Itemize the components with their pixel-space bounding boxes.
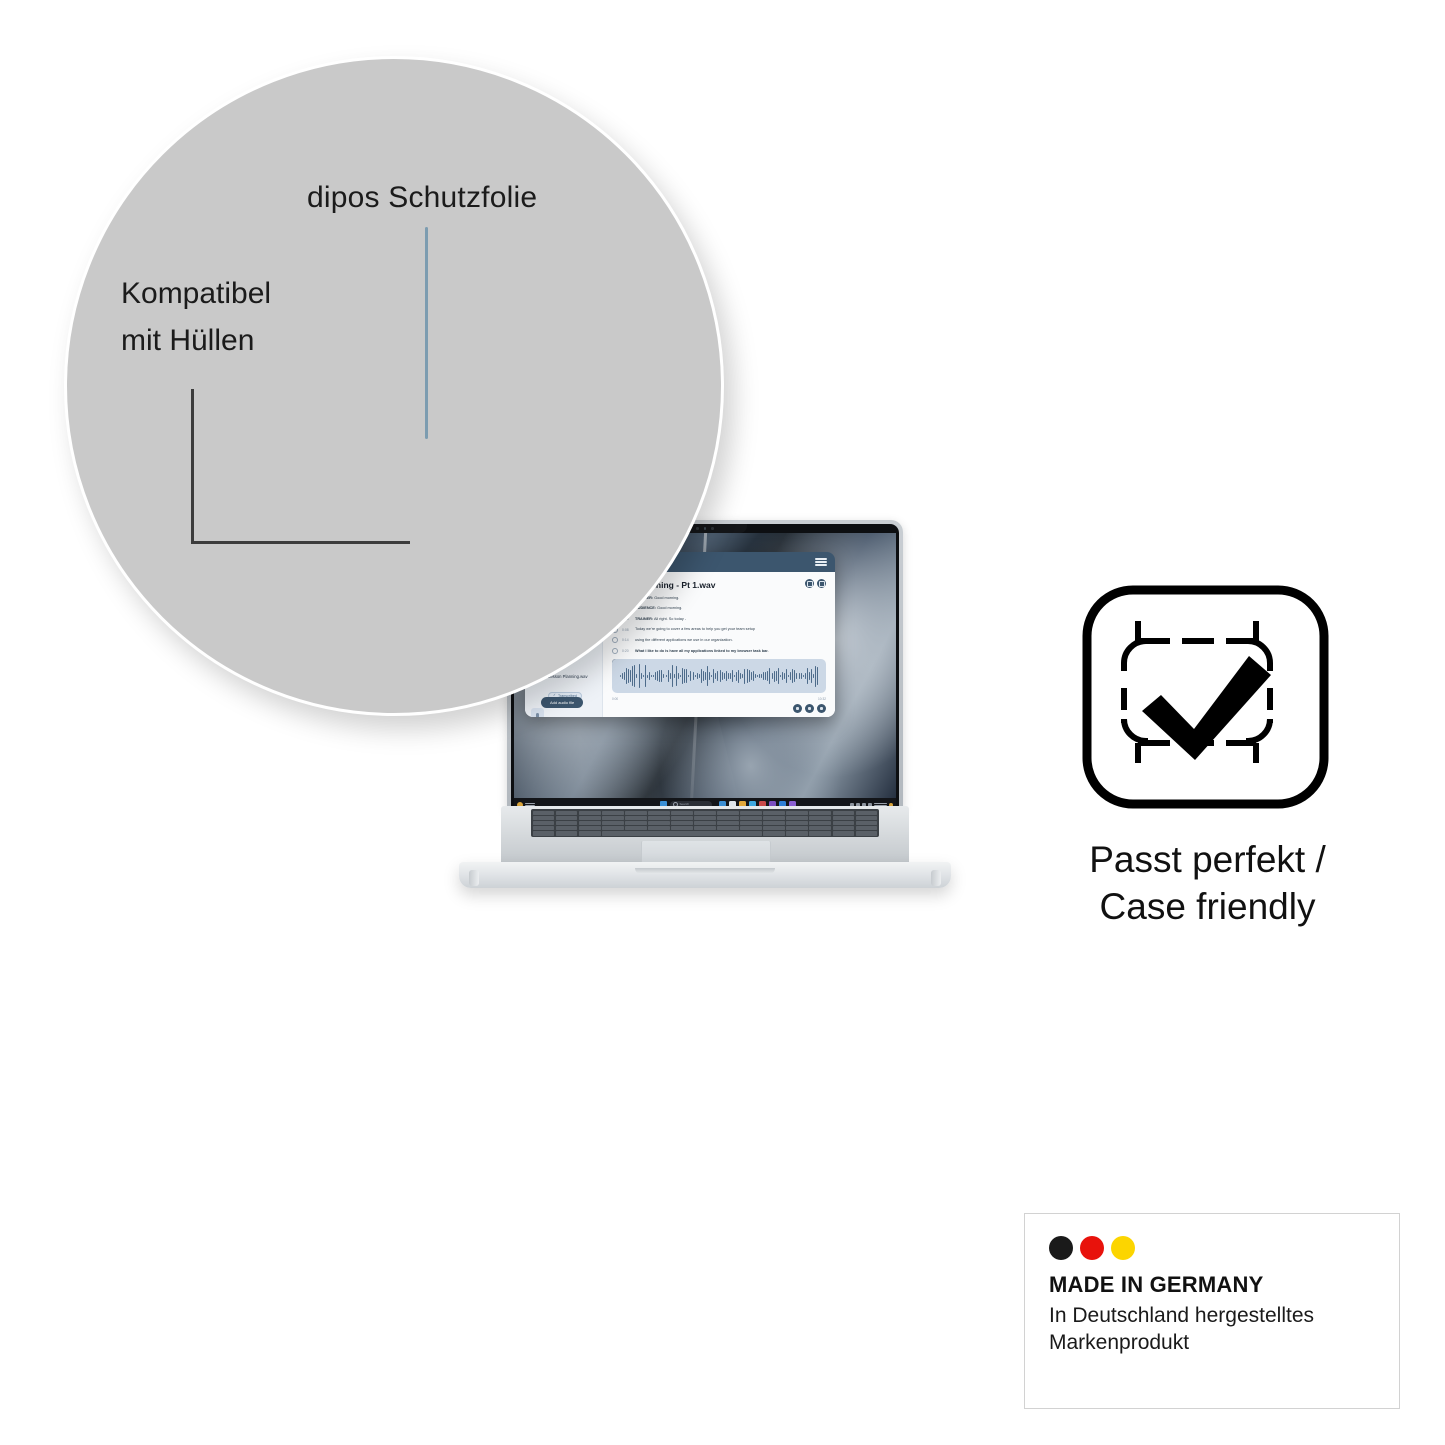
flag-dot-red bbox=[1080, 1236, 1104, 1260]
caption-line-1: Passt perfekt / bbox=[1020, 836, 1395, 883]
waveform-bar bbox=[765, 672, 766, 680]
microphone-icon bbox=[531, 708, 544, 717]
waveform-bar bbox=[753, 671, 754, 682]
waveform-bar bbox=[715, 673, 716, 679]
waveform-bar bbox=[782, 672, 783, 679]
waveform-bar bbox=[630, 670, 631, 682]
waveform-bar bbox=[784, 673, 785, 679]
feature-subtitle-line-2: mit Hüllen bbox=[121, 318, 461, 365]
page-canvas: dipos Schutzfolie Kompatibel mit Hüllen bbox=[0, 0, 1445, 1445]
waveform-timestamps: 0:00 10:32 bbox=[612, 697, 826, 701]
save-icon[interactable] bbox=[817, 579, 826, 588]
laptop-foot bbox=[931, 870, 941, 886]
clock-icon bbox=[612, 648, 618, 654]
waveform-bar bbox=[742, 674, 743, 678]
sensor-icon bbox=[696, 527, 699, 530]
waveform-bar bbox=[663, 674, 664, 677]
waveform-bar bbox=[772, 673, 773, 679]
waveform-bar bbox=[720, 670, 721, 682]
transcript-actions bbox=[805, 579, 826, 588]
waveform-bar bbox=[749, 670, 750, 682]
waveform-bar bbox=[740, 673, 741, 680]
waveform-bar bbox=[763, 672, 764, 681]
waveform-bar bbox=[757, 675, 758, 678]
trackpad[interactable] bbox=[641, 841, 771, 863]
waveform-bar bbox=[780, 675, 781, 678]
waveform-bar bbox=[690, 671, 691, 681]
waveform-bar bbox=[732, 670, 733, 682]
waveform-bar bbox=[726, 671, 727, 681]
utterance-text: Today we're going to cover a few areas t… bbox=[635, 627, 755, 631]
waveform-bar bbox=[674, 674, 675, 678]
file-name: Lesson Planning.wav bbox=[548, 674, 588, 679]
laptop-foot bbox=[469, 870, 479, 886]
flag-dot-gold bbox=[1111, 1236, 1135, 1260]
fit-check-icon bbox=[1078, 583, 1333, 811]
feature-subtitle-line-1: Kompatibel bbox=[121, 271, 461, 318]
waveform-bar bbox=[705, 672, 706, 680]
waveform-bar bbox=[803, 675, 804, 678]
waveform-bar bbox=[767, 671, 768, 681]
waveform-bar bbox=[738, 670, 739, 683]
waveform-bar bbox=[744, 669, 745, 684]
waveform-bar bbox=[697, 673, 698, 680]
waveform-bar bbox=[761, 674, 762, 677]
waveform-bar bbox=[734, 675, 735, 678]
waveform-bar bbox=[755, 674, 756, 677]
waveform-bar bbox=[699, 674, 700, 678]
waveform-bar bbox=[807, 668, 808, 684]
waveform-bar bbox=[626, 668, 627, 685]
transcript-text: using the different applications we use … bbox=[635, 638, 733, 643]
transcript-row: 0:08 Today we're going to cover a few ar… bbox=[612, 627, 826, 633]
timestamp: 0:14 bbox=[622, 638, 631, 642]
transcript-text: AUDIENCE: Good morning. bbox=[635, 606, 682, 611]
copy-icon[interactable] bbox=[805, 579, 814, 588]
waveform-bar bbox=[811, 669, 812, 683]
waveform-bar bbox=[655, 672, 656, 680]
waveform-bar bbox=[639, 664, 640, 688]
waveform-bar bbox=[817, 667, 818, 684]
transcript-row: 0:05 TRAINER: All right. So today - bbox=[612, 616, 826, 622]
timestamp: 0:08 bbox=[622, 628, 631, 632]
transcript-text: What I like to do is have all my applica… bbox=[635, 649, 769, 654]
forward-icon[interactable] bbox=[817, 704, 826, 713]
camera-icon bbox=[704, 527, 707, 530]
utterance-text: All right. So today - bbox=[654, 617, 686, 621]
lid-groove bbox=[635, 868, 775, 874]
waveform-bar bbox=[792, 669, 793, 683]
waveform-bar bbox=[769, 668, 770, 684]
waveform-bar bbox=[693, 672, 694, 681]
laptop-base bbox=[455, 806, 955, 890]
waveform-bar bbox=[682, 668, 683, 683]
waveform-bar bbox=[796, 673, 797, 680]
player-controls bbox=[793, 704, 826, 713]
german-flag-dots bbox=[1049, 1236, 1375, 1260]
waveform-bar bbox=[661, 670, 662, 683]
feature-circle-subtitle: Kompatibel mit Hüllen bbox=[121, 271, 461, 364]
corner-bracket-line bbox=[191, 389, 410, 544]
transcript-text: TRAINER: All right. So today - bbox=[635, 617, 686, 622]
waveform-bar bbox=[707, 666, 708, 685]
waveform-bar bbox=[728, 673, 729, 680]
waveform-bar bbox=[670, 673, 671, 679]
transcript-row: 0:20 What I like to do is have all my ap… bbox=[612, 648, 826, 654]
waveform-bar bbox=[736, 672, 737, 681]
waveform-bar bbox=[709, 672, 710, 681]
speaker-label: TRAINER: bbox=[635, 617, 653, 621]
waveform-bar bbox=[643, 675, 644, 678]
transcript-row: 0:14 using the different applications we… bbox=[612, 637, 826, 643]
waveform-bar bbox=[813, 674, 814, 677]
waveform-bar bbox=[701, 669, 702, 683]
waveform-bar bbox=[668, 670, 669, 682]
waveform-bar bbox=[624, 672, 625, 681]
waveform-bar bbox=[730, 673, 731, 679]
waveform-bar bbox=[672, 665, 673, 687]
waveform-bar bbox=[657, 671, 658, 682]
waveform-bar bbox=[676, 666, 677, 685]
made-in-germany-badge: MADE IN GERMANY In Deutschland hergestel… bbox=[1024, 1213, 1400, 1409]
waveform-bar bbox=[751, 672, 752, 680]
waveform-bar bbox=[666, 675, 667, 678]
waveform-bar bbox=[724, 673, 725, 679]
waveform-bar bbox=[759, 674, 760, 679]
flag-dot-black bbox=[1049, 1236, 1073, 1260]
waveform-bar bbox=[794, 670, 795, 683]
waveform-bar bbox=[788, 675, 789, 677]
time-start: 0:00 bbox=[612, 697, 618, 701]
keyboard-deck bbox=[501, 806, 909, 864]
bottom-case bbox=[459, 862, 951, 888]
waveform-bar bbox=[722, 672, 723, 680]
waveform-bar bbox=[645, 665, 646, 686]
waveform-bar bbox=[717, 671, 718, 682]
hamburger-menu-icon[interactable] bbox=[815, 558, 827, 566]
waveform-bar bbox=[622, 673, 623, 678]
list-item[interactable]: Platform updates.mp3 ✓ Transcribed bbox=[531, 708, 596, 717]
caption-line-2: Case friendly bbox=[1020, 883, 1395, 930]
case-friendly-caption: Passt perfekt / Case friendly bbox=[1020, 836, 1395, 931]
sensor-icon bbox=[711, 527, 714, 530]
play-icon[interactable] bbox=[805, 704, 814, 713]
waveform-bar bbox=[799, 673, 800, 678]
waveform-bar bbox=[801, 673, 802, 680]
made-in-germany-title: MADE IN GERMANY bbox=[1049, 1272, 1375, 1298]
waveform-bar bbox=[634, 665, 635, 687]
waveform-bar bbox=[790, 672, 791, 679]
waveform-bar bbox=[632, 666, 633, 686]
waveform-bar bbox=[680, 675, 681, 678]
waveform-bar bbox=[815, 666, 816, 687]
mig-subtitle-line-2: Markenprodukt bbox=[1049, 1329, 1375, 1356]
waveform-bar bbox=[805, 673, 806, 679]
feature-circle: dipos Schutzfolie Kompatibel mit Hüllen bbox=[64, 56, 724, 716]
waveform-bar bbox=[659, 670, 660, 682]
utterance-text: using the different applications we use … bbox=[635, 638, 733, 642]
waveform-bar bbox=[641, 673, 642, 680]
waveform-bar bbox=[651, 675, 652, 677]
waveform-bar bbox=[778, 668, 779, 683]
waveform-bar bbox=[809, 672, 810, 679]
waveform-bar bbox=[649, 672, 650, 680]
keyboard bbox=[531, 809, 879, 837]
waveform-bar bbox=[776, 671, 777, 681]
waveform-bar bbox=[703, 671, 704, 681]
add-audio-file-button[interactable]: Add audio file bbox=[541, 697, 583, 708]
mig-subtitle-line-1: In Deutschland hergestelltes bbox=[1049, 1302, 1375, 1329]
waveform-bar bbox=[711, 675, 712, 678]
clock-icon bbox=[612, 637, 618, 643]
waveform-bar bbox=[684, 669, 685, 683]
transcript-row: 0:03 AUDIENCE: Good morning. bbox=[612, 606, 826, 612]
waveform-bar bbox=[695, 675, 696, 677]
waveform-bar bbox=[628, 669, 629, 683]
waveform-bar bbox=[688, 675, 689, 678]
waveform-bar bbox=[653, 675, 654, 678]
utterance-text: Good morning. bbox=[654, 596, 679, 600]
rewind-icon[interactable] bbox=[793, 704, 802, 713]
audio-waveform[interactable] bbox=[612, 659, 826, 693]
feature-circle-title: dipos Schutzfolie bbox=[307, 181, 727, 215]
waveform-bar bbox=[678, 673, 679, 678]
waveform-bar bbox=[686, 669, 687, 683]
utterance-text: Good morning. bbox=[657, 606, 682, 610]
waveform-bar bbox=[713, 669, 714, 683]
made-in-germany-subtitle: In Deutschland hergestelltes Markenprodu… bbox=[1049, 1302, 1375, 1357]
timestamp: 0:20 bbox=[622, 649, 631, 653]
waveform-bar bbox=[786, 669, 787, 684]
waveform-bar bbox=[636, 674, 637, 678]
utterance-text: What I like to do is have all my applica… bbox=[635, 649, 769, 653]
transcript-text: Today we're going to cover a few areas t… bbox=[635, 627, 755, 632]
time-end: 10:32 bbox=[818, 697, 826, 701]
waveform-bar bbox=[774, 671, 775, 682]
waveform-bar bbox=[620, 675, 621, 678]
waveform-bar bbox=[747, 669, 748, 683]
waveform-bar bbox=[647, 675, 648, 678]
